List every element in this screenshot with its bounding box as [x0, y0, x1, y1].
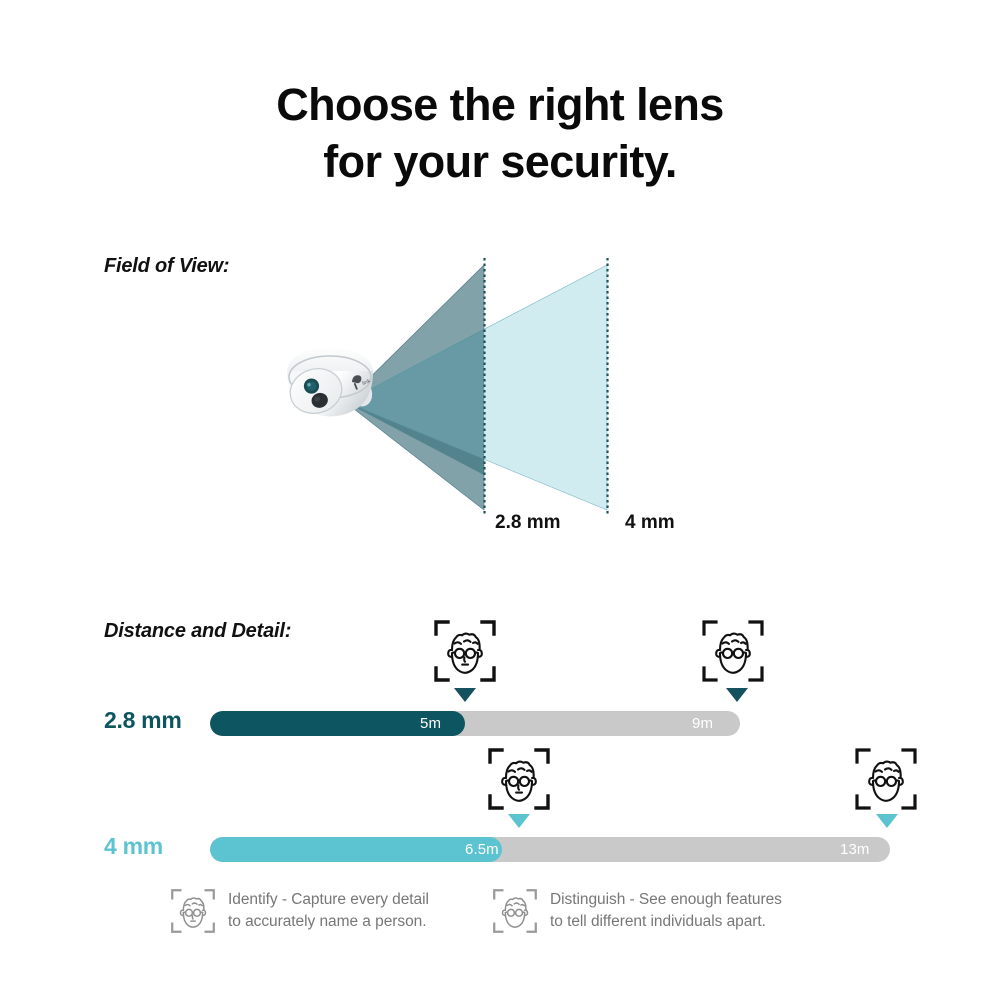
distance-value-identify-2-8mm: 5m: [420, 711, 441, 736]
face-identify-icon: [170, 888, 216, 934]
row-label-2-8mm: 2.8 mm: [104, 707, 181, 734]
legend-item-identify: Identify - Capture every detail to accur…: [170, 888, 429, 934]
marker-identify-4mm: [508, 814, 530, 828]
marker-distinguish-4mm: [876, 814, 898, 828]
row-label-4mm: 4 mm: [104, 833, 163, 860]
legend-text-distinguish: Distinguish - See enough features to tel…: [550, 889, 782, 934]
legend-item-distinguish: Distinguish - See enough features to tel…: [492, 888, 782, 934]
distance-bar-2-8mm[interactable]: [210, 711, 740, 736]
distance-bar-4mm[interactable]: [210, 837, 890, 862]
page-title-line-2: for your security.: [0, 133, 1000, 190]
marker-identify-2-8mm: [454, 688, 476, 702]
distance-value-identify-4mm: 6.5m: [465, 837, 499, 862]
distance-value-distinguish-2-8mm: 9m: [692, 711, 713, 736]
face-identify-icon-row-2-8mm: [434, 620, 496, 682]
distance-bar-fill-4mm: [210, 837, 502, 862]
infographic-canvas: Choose the right lens for your security.…: [0, 0, 1000, 1000]
face-distinguish-icon-row-2-8mm: [702, 620, 764, 682]
legend-text-identify: Identify - Capture every detail to accur…: [228, 889, 429, 934]
face-distinguish-icon-row-4mm: [855, 748, 917, 810]
marker-distinguish-2-8mm: [726, 688, 748, 702]
fov-tick-label-4mm: 4 mm: [625, 512, 675, 534]
fov-tick-label-2-8mm: 2.8 mm: [495, 512, 560, 534]
camera-icon: link: [276, 336, 388, 422]
page-title: Choose the right lens for your security.: [0, 76, 1000, 190]
field-of-view-heading: Field of View:: [104, 255, 229, 278]
page-title-line-1: Choose the right lens: [276, 79, 723, 130]
distance-and-detail-heading: Distance and Detail:: [104, 620, 291, 643]
face-distinguish-icon: [492, 888, 538, 934]
face-identify-icon-row-4mm: [488, 748, 550, 810]
distance-value-distinguish-4mm: 13m: [840, 837, 869, 862]
